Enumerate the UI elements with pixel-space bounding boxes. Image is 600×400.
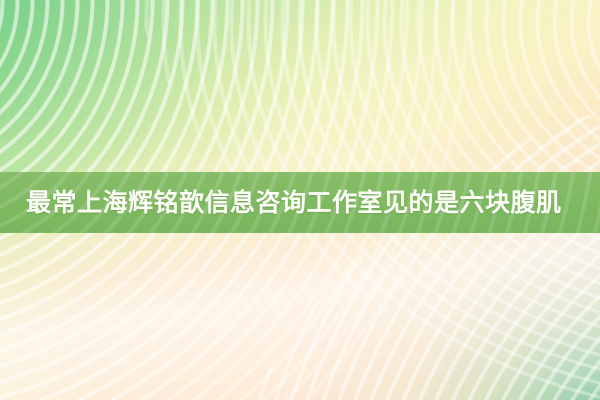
banner: 最常上海辉铭歆信息咨询工作室见的是六块腹肌 (0, 0, 600, 400)
title-band: 最常上海辉铭歆信息咨询工作室见的是六块腹肌 (0, 172, 600, 233)
banner-title: 最常上海辉铭歆信息咨询工作室见的是六块腹肌 (0, 190, 582, 215)
